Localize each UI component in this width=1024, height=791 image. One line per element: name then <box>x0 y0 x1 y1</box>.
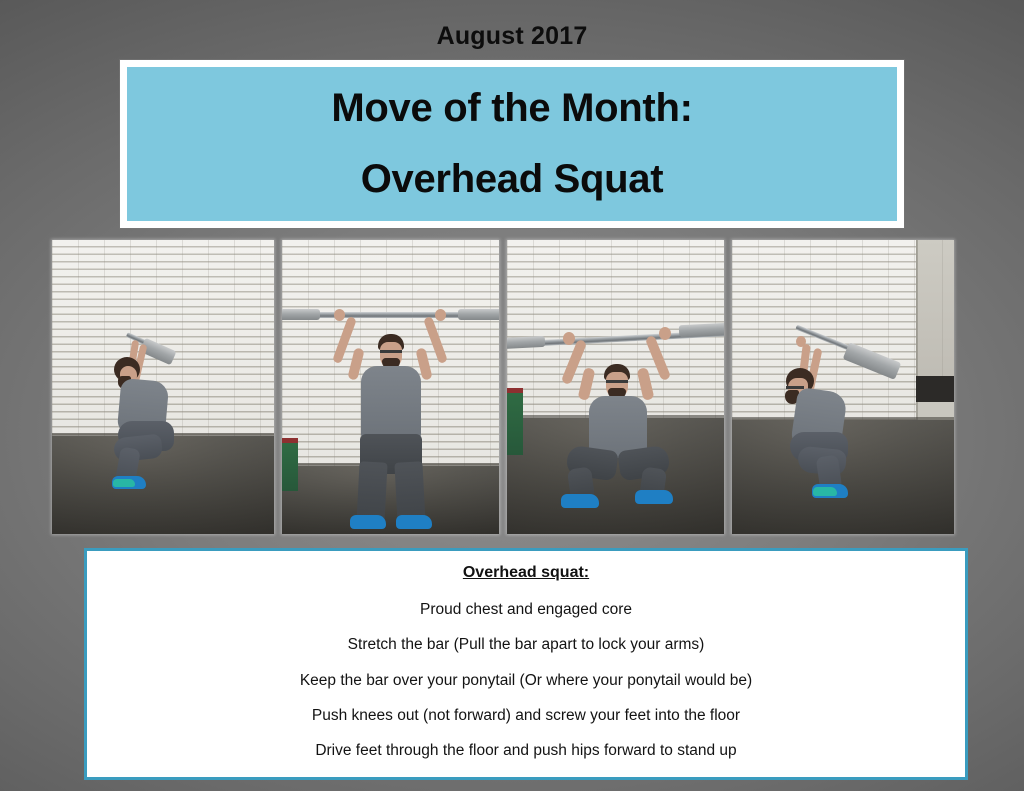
cue-line: Drive feet through the floor and push hi… <box>87 742 965 759</box>
photo-athlete-squat-side-right <box>732 240 954 534</box>
cue-line: Push knees out (not forward) and screw y… <box>87 707 965 724</box>
slide-canvas: August 2017 Move of the Month: Overhead … <box>0 0 1024 791</box>
page-title-line-2: Overhead Squat <box>361 159 664 200</box>
cues-text-box: Overhead squat: Proud chest and engaged … <box>84 548 968 780</box>
cue-line: Stretch the bar (Pull the bar apart to l… <box>87 636 965 653</box>
title-box: Move of the Month: Overhead Squat <box>120 60 904 228</box>
photo-athlete-squat-front <box>507 240 724 534</box>
page-title-line-1: Move of the Month: <box>331 88 692 129</box>
cues-heading: Overhead squat: <box>87 564 965 582</box>
cue-line: Keep the bar over your ponytail (Or wher… <box>87 672 965 689</box>
page-date: August 2017 <box>0 22 1024 51</box>
cue-line: Proud chest and engaged core <box>87 601 965 618</box>
photo-athlete-standing-front <box>282 240 499 534</box>
photo-athlete-squat-side-left <box>52 240 274 534</box>
photo-strip <box>52 240 976 534</box>
